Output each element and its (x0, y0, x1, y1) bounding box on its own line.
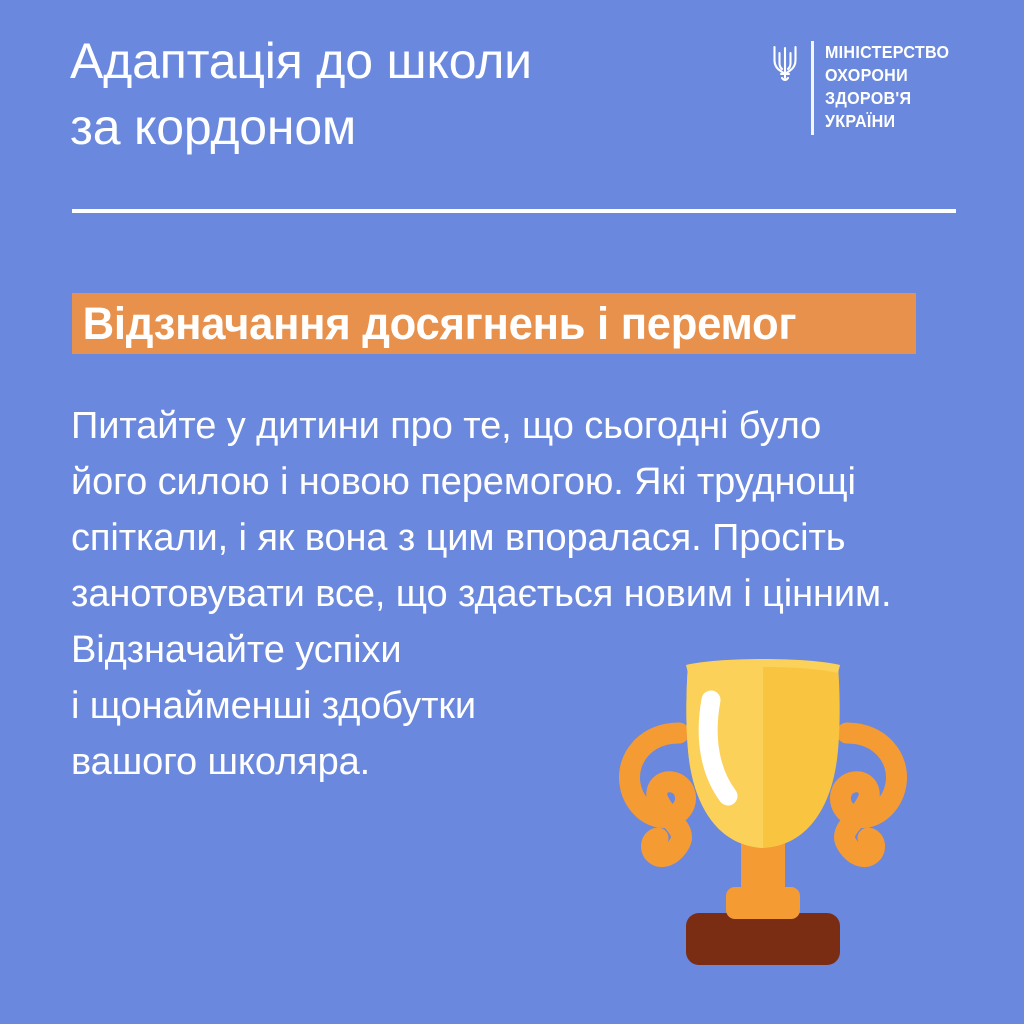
infographic-poster: Адаптація до школи за кордоном МІНІСТЕРС… (0, 0, 1024, 1024)
logo-line-4: УКРАЇНИ (825, 111, 949, 132)
logo-line-1: МІНІСТЕРСТВО (825, 42, 949, 63)
logo-line-2: ОХОРОНИ (825, 65, 949, 86)
logo-divider-rule (811, 41, 814, 135)
header-divider (72, 209, 956, 213)
ukrainian-trident-emblem (770, 43, 800, 87)
logo-text-block: МІНІСТЕРСТВО ОХОРОНИ ЗДОРОВ'Я УКРАЇНИ (825, 40, 960, 132)
page-title: Адаптація до школи за кордоном (70, 28, 710, 160)
ministry-logo: МІНІСТЕРСТВО ОХОРОНИ ЗДОРОВ'Я УКРАЇНИ (770, 40, 960, 135)
body-paragraph: Питайте у дитини про те, що сьогодні бул… (71, 398, 976, 790)
logo-line-3: ЗДОРОВ'Я (825, 88, 949, 109)
section-heading-text: Відзначання досягнень і перемог (72, 301, 796, 346)
section-heading-band: Відзначання досягнень і перемог (72, 293, 916, 354)
